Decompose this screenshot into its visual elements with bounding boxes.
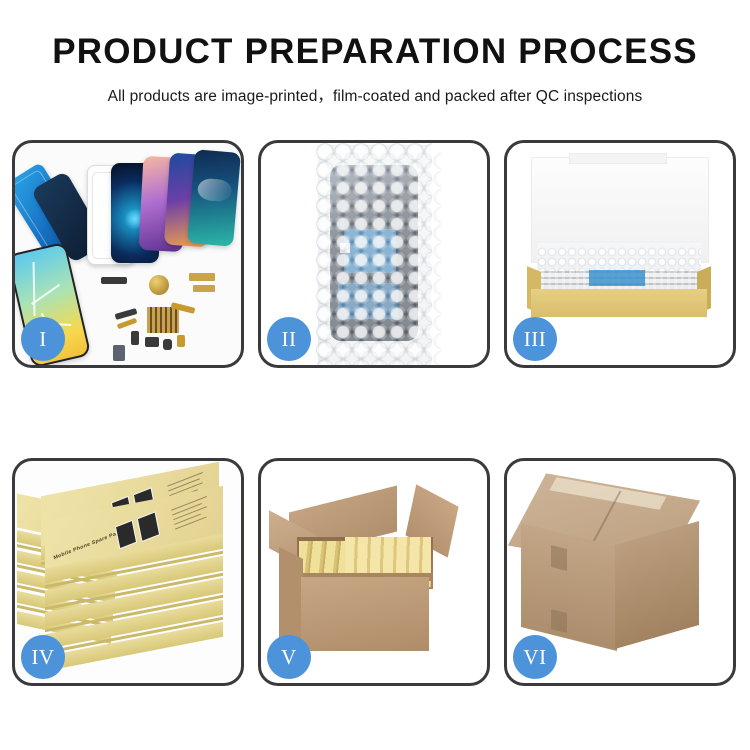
process-step-panel-4: Mobile Phone Spare Parts <box>12 458 244 686</box>
product-preparation-infographic: PRODUCT PREPARATION PROCESS All products… <box>0 0 750 750</box>
step-2-illustration: II <box>261 143 487 365</box>
page-title: PRODUCT PREPARATION PROCESS <box>0 34 750 71</box>
step-3-illustration: III <box>507 143 733 365</box>
process-step-panel-2: II <box>258 140 490 368</box>
carton-handle-tab-bottom-icon <box>551 609 567 633</box>
step-badge-5: V <box>267 635 311 679</box>
step-badge-1: I <box>21 317 65 361</box>
header: PRODUCT PREPARATION PROCESS All products… <box>0 0 750 106</box>
bubble-texture-back-icon <box>325 152 441 365</box>
step-badge-3: III <box>513 317 557 361</box>
process-step-panel-5: V <box>258 458 490 686</box>
process-step-grid: I II <box>12 140 738 688</box>
phone-teal-display-icon <box>187 149 241 247</box>
process-step-panel-1: I <box>12 140 244 368</box>
step-badge-2: II <box>267 317 311 361</box>
carton-handle-tab-top-icon <box>551 545 567 571</box>
carton-front-wall-icon <box>301 577 429 651</box>
step-badge-6: VI <box>513 635 557 679</box>
step-4-illustration: Mobile Phone Spare Parts <box>15 461 241 683</box>
box-front-wall-icon <box>531 289 707 317</box>
step-badge-4: IV <box>21 635 65 679</box>
process-step-panel-6: VI <box>504 458 736 686</box>
step-5-illustration: V <box>261 461 487 683</box>
process-step-panel-3: III <box>504 140 736 368</box>
packed-screens-icon <box>541 267 697 291</box>
box-stack-right: Mobile Phone Spare Parts <box>41 479 241 669</box>
sealed-carton-side-icon <box>615 521 699 649</box>
spare-parts-group-icon <box>101 269 237 365</box>
step-6-illustration: VI <box>507 461 733 683</box>
page-subtitle: All products are image-printed，film-coat… <box>0 84 750 106</box>
step-1-illustration: I <box>15 143 241 365</box>
box-lid-tab-icon <box>569 153 667 164</box>
